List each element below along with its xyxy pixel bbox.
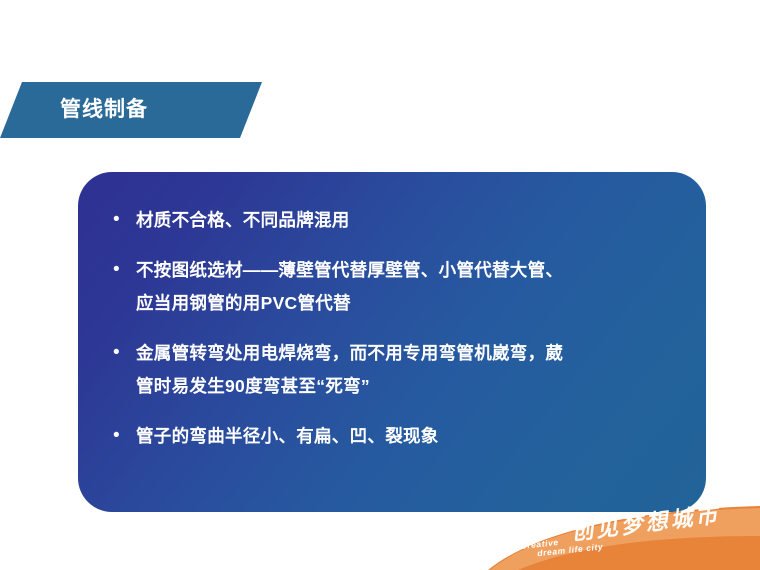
bullet-line: 金属管转弯处用电焊烧弯，而不用专用弯管机崴弯，葳	[136, 337, 686, 370]
list-item: • 不按图纸选材——薄壁管代替厚壁管、小管代替大管、 应当用钢管的用PVC管代替	[106, 254, 686, 320]
bullet-text: 金属管转弯处用电焊烧弯，而不用专用弯管机崴弯，葳 管时易发生90度弯甚至“死弯”	[136, 337, 686, 403]
bullet-text: 材质不合格、不同品牌混用	[136, 204, 686, 237]
bullet-marker: •	[106, 204, 136, 236]
slide-canvas: 管线制备 • 材质不合格、不同品牌混用 • 不按图纸选材——薄壁管代替厚壁管、小…	[0, 0, 760, 570]
bullet-line: 材质不合格、不同品牌混用	[136, 204, 686, 237]
bullet-list: • 材质不合格、不同品牌混用 • 不按图纸选材——薄壁管代替厚壁管、小管代替大管…	[106, 204, 686, 453]
bullet-line: 不按图纸选材——薄壁管代替厚壁管、小管代替大管、	[136, 254, 686, 287]
bullet-marker: •	[106, 420, 136, 452]
page-title: 管线制备	[60, 90, 148, 130]
bullet-text: 不按图纸选材——薄壁管代替厚壁管、小管代替大管、 应当用钢管的用PVC管代替	[136, 254, 686, 320]
bullet-marker: •	[106, 254, 136, 286]
bullet-line: 管子的弯曲半径小、有扁、凹、裂现象	[136, 420, 686, 453]
bullet-marker: •	[106, 337, 136, 369]
bullet-line: 应当用钢管的用PVC管代替	[136, 287, 686, 320]
list-item: • 材质不合格、不同品牌混用	[106, 204, 686, 237]
bullet-line: 管时易发生90度弯甚至“死弯”	[136, 370, 686, 403]
list-item: • 金属管转弯处用电焊烧弯，而不用专用弯管机崴弯，葳 管时易发生90度弯甚至“死…	[106, 337, 686, 403]
bullet-text: 管子的弯曲半径小、有扁、凹、裂现象	[136, 420, 686, 453]
list-item: • 管子的弯曲半径小、有扁、凹、裂现象	[106, 420, 686, 453]
content-panel: • 材质不合格、不同品牌混用 • 不按图纸选材——薄壁管代替厚壁管、小管代替大管…	[78, 172, 706, 512]
